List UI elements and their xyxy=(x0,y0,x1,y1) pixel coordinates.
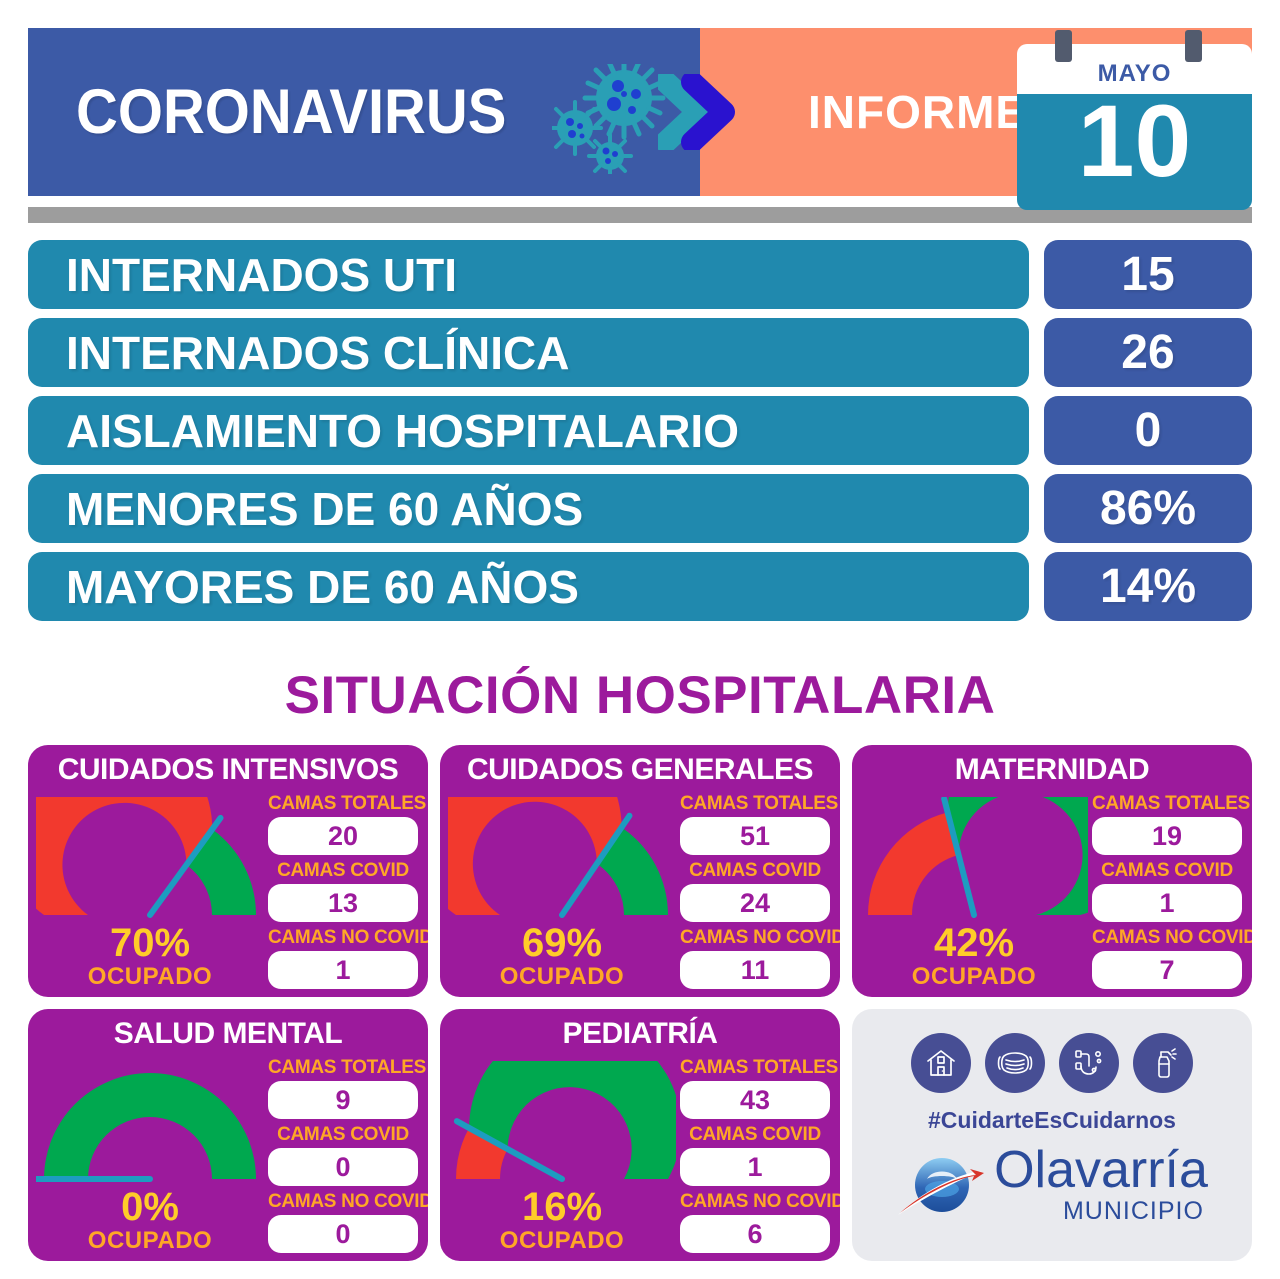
bed-nocovid-value: 7 xyxy=(1092,951,1242,989)
stat-value: 26 xyxy=(1044,318,1252,387)
gauge-occupied-label: OCUPADO xyxy=(36,963,264,991)
bed-total-value: 43 xyxy=(680,1081,830,1119)
gauge-occupied-label: OCUPADO xyxy=(448,1227,676,1255)
gauge-percent: 16% xyxy=(448,1187,676,1227)
handwash-icon xyxy=(1059,1033,1119,1093)
bed-total-label: CAMAS TOTALES xyxy=(680,793,830,815)
stat-value: 86% xyxy=(1044,474,1252,543)
bed-nocovid-label: CAMAS NO COVID xyxy=(680,1191,830,1213)
gauge-chart xyxy=(860,797,1088,923)
bed-covid-value: 1 xyxy=(1092,884,1242,922)
stat-value: 0 xyxy=(1044,396,1252,465)
calendar-day: 10 xyxy=(1017,90,1252,192)
chevron-right-icon xyxy=(658,74,748,150)
bed-total-label: CAMAS TOTALES xyxy=(680,1057,830,1079)
bed-covid-label: CAMAS COVID xyxy=(680,1124,830,1146)
stat-row: MENORES DE 60 AÑOS 86% xyxy=(28,474,1252,543)
gauge-percent: 69% xyxy=(448,923,676,963)
report-label: INFORME xyxy=(808,85,1027,139)
olavarria-logo-text: Olavarría MUNICIPIO xyxy=(994,1143,1208,1226)
gauge-card: PEDIATRÍA 16% OCUPADO CAMAS TOTALES 43 C… xyxy=(440,1009,840,1261)
home-icon xyxy=(911,1033,971,1093)
bed-nocovid-label: CAMAS NO COVID xyxy=(268,1191,418,1213)
bed-info: CAMAS TOTALES 51 CAMAS COVID 24 CAMAS NO… xyxy=(680,793,830,994)
gauge-chart xyxy=(36,1061,264,1187)
bed-total-label: CAMAS TOTALES xyxy=(1092,793,1242,815)
bed-covid-value: 1 xyxy=(680,1148,830,1186)
bed-total-label: CAMAS TOTALES xyxy=(268,1057,418,1079)
bed-nocovid-value: 0 xyxy=(268,1215,418,1253)
gauge-occupied-label: OCUPADO xyxy=(36,1227,264,1255)
olavarria-logo-mark xyxy=(896,1149,988,1221)
gauge-chart xyxy=(448,1061,676,1187)
gauge-card-title: PEDIATRÍA xyxy=(440,1017,840,1051)
stat-row: INTERNADOS CLÍNICA 26 xyxy=(28,318,1252,387)
calendar-icon: MAYO 10 xyxy=(1017,30,1252,210)
face-mask-icon xyxy=(985,1033,1045,1093)
gauge-chart xyxy=(36,797,264,923)
calendar-ring-right xyxy=(1185,30,1202,62)
bed-nocovid-value: 11 xyxy=(680,951,830,989)
stat-label: AISLAMIENTO HOSPITALARIO xyxy=(28,396,1029,465)
gauge-percent: 0% xyxy=(36,1187,264,1227)
bed-total-value: 20 xyxy=(268,817,418,855)
gauge-card: SALUD MENTAL 0% OCUPADO CAMAS TOTALES 9 … xyxy=(28,1009,428,1261)
gauge-card-title: MATERNIDAD xyxy=(852,753,1252,787)
stat-label: INTERNADOS CLÍNICA xyxy=(28,318,1029,387)
stat-label: INTERNADOS UTI xyxy=(28,240,1029,309)
gauge-percent: 42% xyxy=(860,923,1088,963)
bed-covid-value: 24 xyxy=(680,884,830,922)
bed-nocovid-value: 1 xyxy=(268,951,418,989)
bed-covid-value: 0 xyxy=(268,1148,418,1186)
bed-info: CAMAS TOTALES 9 CAMAS COVID 0 CAMAS NO C… xyxy=(268,1057,418,1258)
gauge-card-title: SALUD MENTAL xyxy=(28,1017,428,1051)
header-left-panel: CORONAVIRUS xyxy=(28,28,700,196)
stat-label: MENORES DE 60 AÑOS xyxy=(28,474,1029,543)
bed-info: CAMAS TOTALES 20 CAMAS COVID 13 CAMAS NO… xyxy=(268,793,418,994)
gauge-card-title: CUIDADOS INTENSIVOS xyxy=(28,753,428,787)
bed-total-value: 51 xyxy=(680,817,830,855)
bed-total-label: CAMAS TOTALES xyxy=(268,793,418,815)
bed-nocovid-label: CAMAS NO COVID xyxy=(268,927,418,949)
bed-covid-label: CAMAS COVID xyxy=(268,1124,418,1146)
section-title: SITUACIÓN HOSPITALARIA xyxy=(0,665,1280,726)
bed-total-value: 9 xyxy=(268,1081,418,1119)
page-title: CORONAVIRUS xyxy=(76,76,506,148)
calendar-ring-left xyxy=(1055,30,1072,62)
olavarria-logo: Olavarría MUNICIPIO xyxy=(852,1143,1252,1226)
stats-list: INTERNADOS UTI 15 INTERNADOS CLÍNICA 26 … xyxy=(28,240,1252,630)
stat-row: MAYORES DE 60 AÑOS 14% xyxy=(28,552,1252,621)
gauge-percent: 70% xyxy=(36,923,264,963)
bed-info: CAMAS TOTALES 43 CAMAS COVID 1 CAMAS NO … xyxy=(680,1057,830,1258)
gauge-chart xyxy=(448,797,676,923)
campaign-hashtag: #CuidarteEsCuidarnos xyxy=(852,1107,1252,1134)
bed-nocovid-label: CAMAS NO COVID xyxy=(1092,927,1242,949)
stat-row: INTERNADOS UTI 15 xyxy=(28,240,1252,309)
bed-covid-label: CAMAS COVID xyxy=(1092,860,1242,882)
stat-row: AISLAMIENTO HOSPITALARIO 0 xyxy=(28,396,1252,465)
infographic-page: CORONAVIRUS xyxy=(0,0,1280,1279)
prevention-icon-row xyxy=(852,1033,1252,1093)
gauge-occupied-label: OCUPADO xyxy=(860,963,1088,991)
gauge-card: CUIDADOS GENERALES 69% OCUPADO CAMAS TOT… xyxy=(440,745,840,997)
gauge-card-grid: CUIDADOS INTENSIVOS 70% OCUPADO CAMAS TO… xyxy=(28,745,1252,1261)
brand-subtitle: MUNICIPIO xyxy=(1063,1197,1204,1226)
bed-info: CAMAS TOTALES 19 CAMAS COVID 1 CAMAS NO … xyxy=(1092,793,1242,994)
stat-value: 14% xyxy=(1044,552,1252,621)
campaign-logo-panel: #CuidarteEsCuidarnos xyxy=(852,1009,1252,1261)
gauge-card: MATERNIDAD 42% OCUPADO CAMAS TOTALES 19 … xyxy=(852,745,1252,997)
stat-value: 15 xyxy=(1044,240,1252,309)
bed-nocovid-label: CAMAS NO COVID xyxy=(680,927,830,949)
gauge-occupied-label: OCUPADO xyxy=(448,963,676,991)
gauge-card: CUIDADOS INTENSIVOS 70% OCUPADO CAMAS TO… xyxy=(28,745,428,997)
bed-total-value: 19 xyxy=(1092,817,1242,855)
gauge-card-title: CUIDADOS GENERALES xyxy=(440,753,840,787)
bed-covid-label: CAMAS COVID xyxy=(268,860,418,882)
brand-name: Olavarría xyxy=(994,1143,1208,1197)
bed-covid-value: 13 xyxy=(268,884,418,922)
spray-bottle-icon xyxy=(1133,1033,1193,1093)
bed-covid-label: CAMAS COVID xyxy=(680,860,830,882)
bed-nocovid-value: 6 xyxy=(680,1215,830,1253)
stat-label: MAYORES DE 60 AÑOS xyxy=(28,552,1029,621)
